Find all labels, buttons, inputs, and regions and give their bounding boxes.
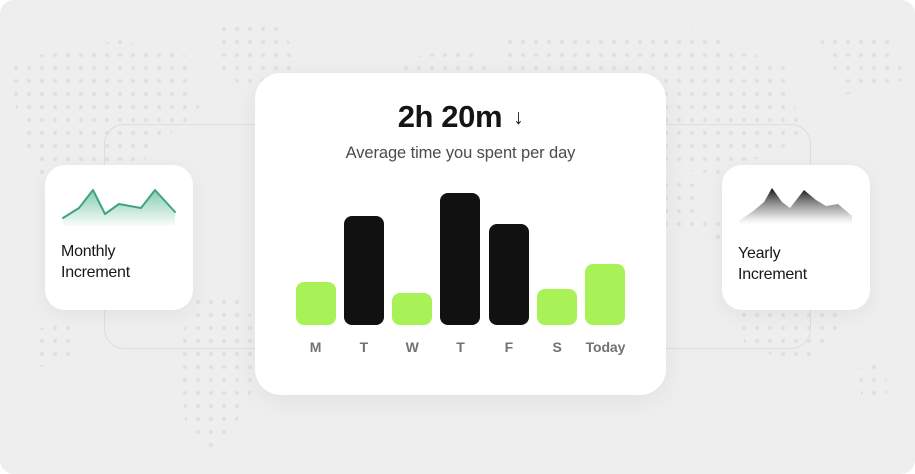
average-time-value: 2h 20m [398,99,502,135]
average-time-card: 2h 20m ↓ Average time you spent per day … [255,73,666,395]
green-area-sparkline-icon [61,182,177,228]
card-monthly-label: Monthly Increment [61,241,177,283]
x-label-f: F [489,339,529,355]
weekly-bar-chart: M T W T F S Today [276,181,646,361]
bar-today[interactable] [585,264,625,325]
bar-s[interactable] [537,289,577,325]
bar-group [276,181,646,325]
card-yearly-label: Yearly Increment [738,243,854,285]
card-monthly-increment[interactable]: Monthly Increment [45,165,193,310]
x-label-w: W [392,339,432,355]
bar-column [585,264,625,325]
x-label-t2: T [440,339,480,355]
x-label-m: M [296,339,336,355]
card-yearly-label-line1: Yearly [738,245,780,262]
app-canvas: Monthly Increment 2h 20m ↓ Average time … [0,0,915,474]
bar-m[interactable] [296,282,336,325]
bar-column [344,216,384,325]
bar-column [440,193,480,325]
x-label-t1: T [344,339,384,355]
bar-column [296,282,336,325]
x-label-s: S [537,339,577,355]
dark-mountain-area-icon [738,182,854,228]
bar-t2[interactable] [440,193,480,325]
bar-column [392,293,432,325]
card-yearly-label-line2: Increment [738,266,807,283]
bar-column [489,224,529,325]
bar-t1[interactable] [344,216,384,325]
x-label-today: Today [585,339,625,355]
card-yearly-increment[interactable]: Yearly Increment [722,165,870,310]
average-time-subtitle: Average time you spent per day [346,144,576,163]
arrow-down-icon: ↓ [513,107,523,128]
bar-column [537,289,577,325]
x-axis-labels: M T W T F S Today [276,339,646,355]
card-monthly-label-line1: Monthly [61,243,115,260]
bar-f[interactable] [489,224,529,325]
bar-w[interactable] [392,293,432,325]
headline-row: 2h 20m ↓ [398,99,524,135]
card-monthly-label-line2: Increment [61,264,130,281]
